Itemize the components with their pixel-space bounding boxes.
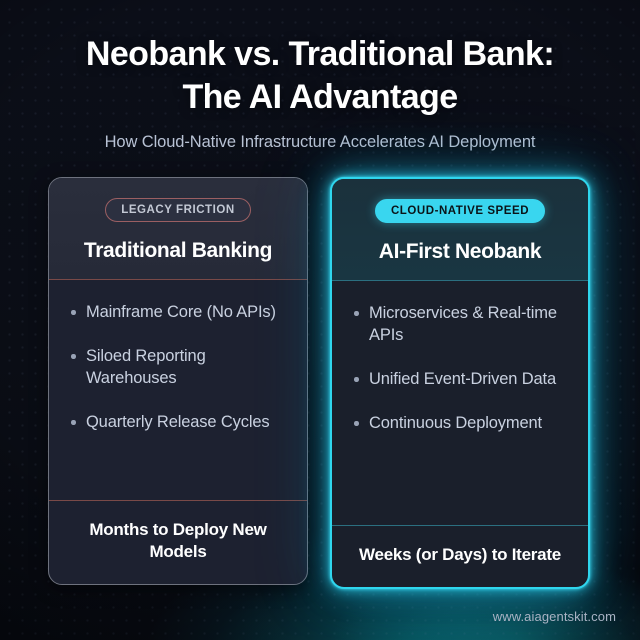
list-item: Quarterly Release Cycles [69, 412, 287, 434]
card-legacy-title: Traditional Banking [63, 238, 293, 263]
status-badge-legacy: LEGACY FRICTION [105, 198, 250, 222]
list-item: Microservices & Real-time APIs [352, 303, 568, 347]
card-legacy-outcome: Months to Deploy New Models [63, 519, 293, 564]
card-neobank-body: Microservices & Real-time APIs Unified E… [332, 281, 588, 525]
card-neobank-title: AI-First Neobank [346, 239, 574, 264]
card-legacy-body: Mainframe Core (No APIs) Siloed Reportin… [49, 280, 307, 500]
status-badge-neobank: CLOUD-NATIVE SPEED [375, 199, 545, 223]
list-item: Unified Event-Driven Data [352, 369, 568, 391]
list-item: Siloed Reporting Warehouses [69, 346, 287, 390]
list-item: Mainframe Core (No APIs) [69, 302, 287, 324]
title-block: Neobank vs. Traditional Bank: The AI Adv… [0, 33, 640, 152]
site-url-label: www.aiagentskit.com [493, 609, 616, 624]
card-legacy-header: LEGACY FRICTION Traditional Banking [49, 178, 307, 280]
card-neobank-outcome: Weeks (or Days) to Iterate [346, 544, 574, 567]
page-subtitle: How Cloud-Native Infrastructure Accelera… [0, 133, 640, 152]
card-legacy-footer: Months to Deploy New Models [49, 500, 307, 584]
page-title-line-2: The AI Advantage [182, 78, 457, 116]
page-title: Neobank vs. Traditional Bank: The AI Adv… [0, 33, 640, 119]
card-legacy-bullet-list: Mainframe Core (No APIs) Siloed Reportin… [69, 302, 287, 434]
infographic-content: Neobank vs. Traditional Bank: The AI Adv… [0, 0, 640, 640]
card-neobank-bullet-list: Microservices & Real-time APIs Unified E… [352, 303, 568, 435]
page-title-line-1: Neobank vs. Traditional Bank: [86, 35, 554, 73]
card-neobank-header: CLOUD-NATIVE SPEED AI-First Neobank [332, 179, 588, 281]
list-item: Continuous Deployment [352, 413, 568, 435]
comparison-card-neobank: CLOUD-NATIVE SPEED AI-First Neobank Micr… [330, 177, 590, 589]
comparison-card-legacy: LEGACY FRICTION Traditional Banking Main… [48, 177, 308, 585]
card-neobank-footer: Weeks (or Days) to Iterate [332, 525, 588, 587]
